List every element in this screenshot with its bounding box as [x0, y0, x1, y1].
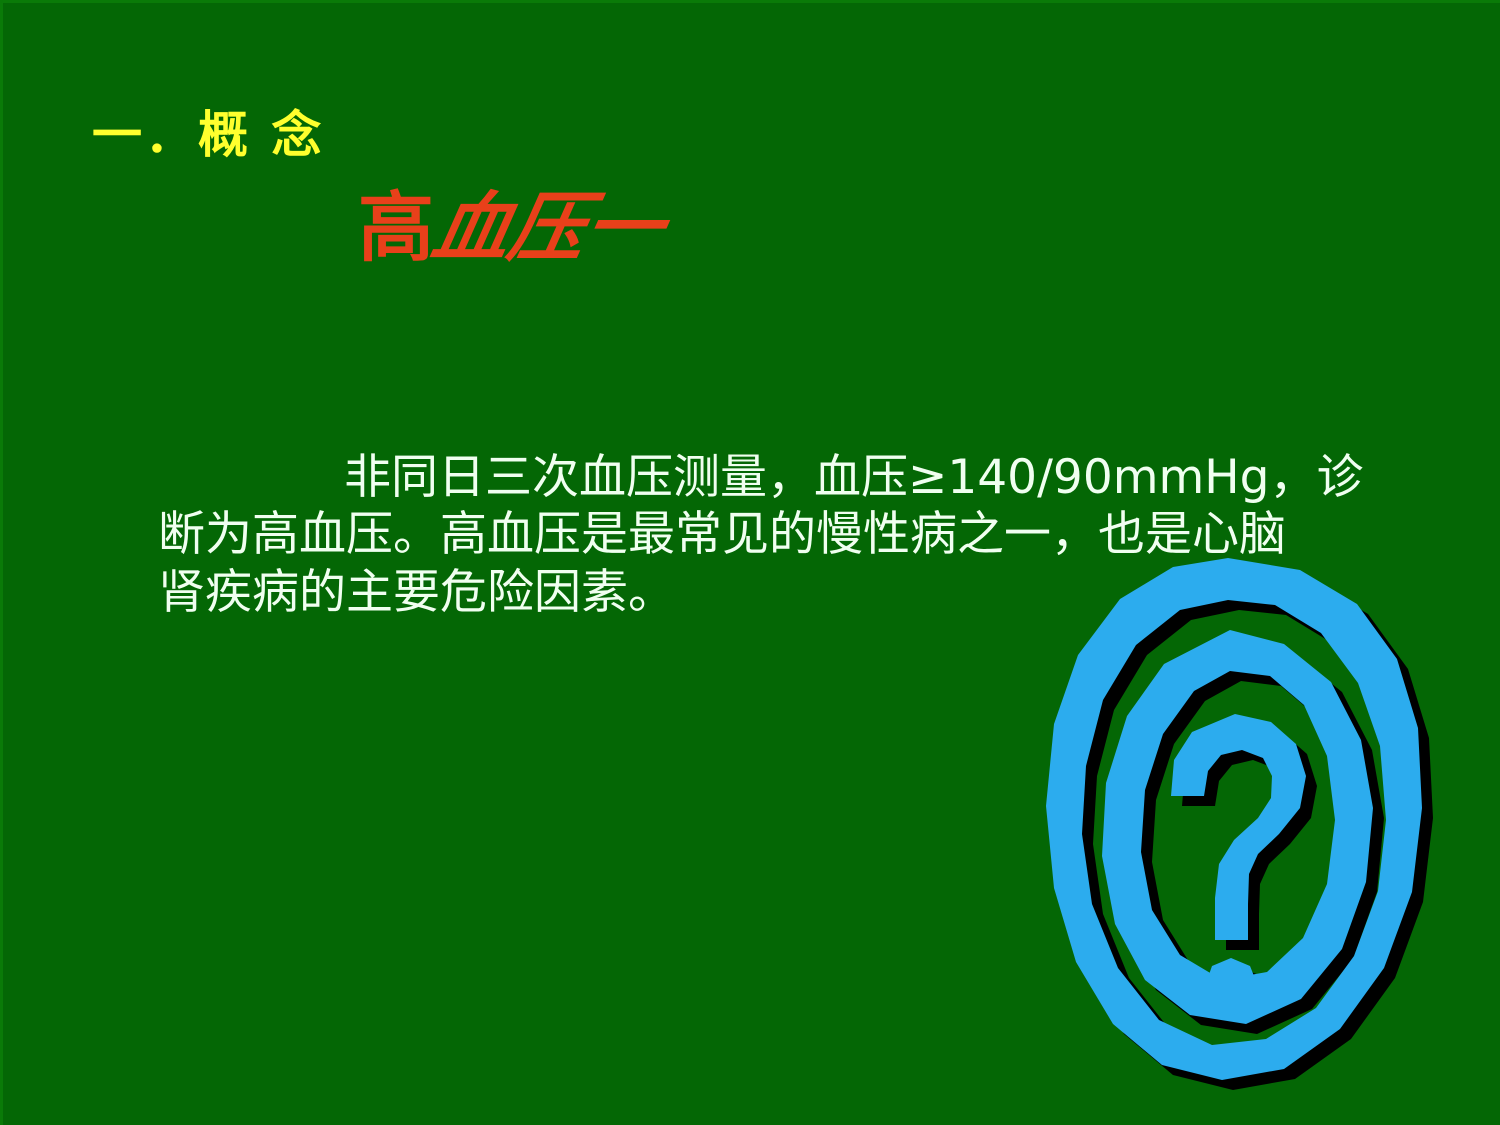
definition-line-1: 非同日三次血压测量，血压≥140/90mmHg，诊 — [158, 449, 1388, 507]
topic-title-upright: 高 — [358, 183, 434, 272]
slide-canvas: 一．概 念 高血压一 非同日三次血压测量，血压≥140/90mmHg，诊断为高血… — [0, 0, 1500, 1125]
topic-title-slanted: 血压一 — [427, 190, 670, 266]
page-title: 一．概 念 — [92, 108, 324, 163]
topic-title: 高血压一 — [358, 190, 662, 266]
question-mark-icon — [1032, 552, 1442, 1108]
